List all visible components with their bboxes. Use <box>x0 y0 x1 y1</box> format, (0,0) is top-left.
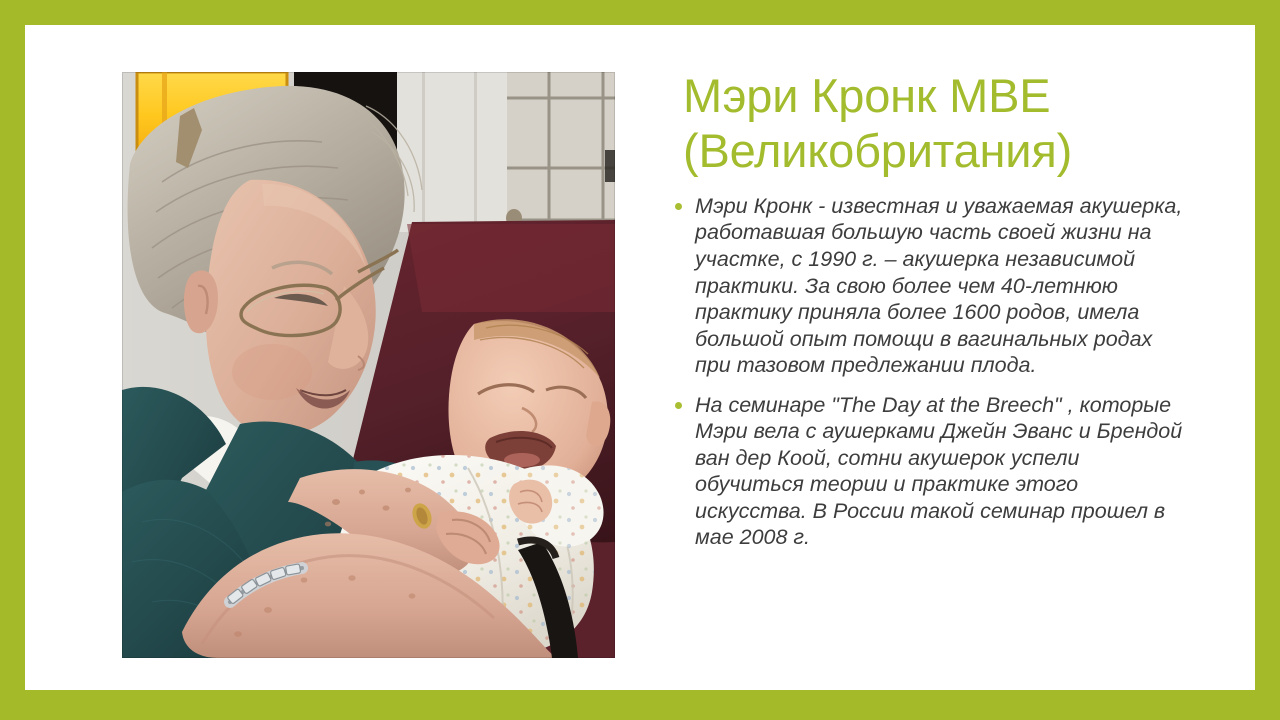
frame-border-bottom <box>0 690 1280 720</box>
page-title: Мэри Кронк MBE (Великобритания) <box>683 68 1185 179</box>
frame-border-top <box>0 0 1280 25</box>
photo-illustration <box>122 72 615 658</box>
slide: Мэри Кронк MBE (Великобритания) Мэри Кро… <box>0 0 1280 720</box>
frame-border-left <box>0 0 25 720</box>
list-item: На семинаре "The Day at the Breech" , ко… <box>665 392 1185 551</box>
bullet-text: Мэри Кронк - известная и уважаемая акуше… <box>695 194 1182 377</box>
bullet-dot-icon <box>675 402 682 409</box>
list-item: Мэри Кронк - известная и уважаемая акуше… <box>665 193 1185 379</box>
bullet-text: На семинаре "The Day at the Breech" , ко… <box>695 393 1182 550</box>
bullet-list: Мэри Кронк - известная и уважаемая акуше… <box>665 193 1185 551</box>
frame-border-right <box>1255 0 1280 720</box>
photo-midwife-with-baby <box>122 72 615 658</box>
bullet-dot-icon <box>675 203 682 210</box>
content-column: Мэри Кронк MBE (Великобритания) Мэри Кро… <box>665 68 1185 564</box>
